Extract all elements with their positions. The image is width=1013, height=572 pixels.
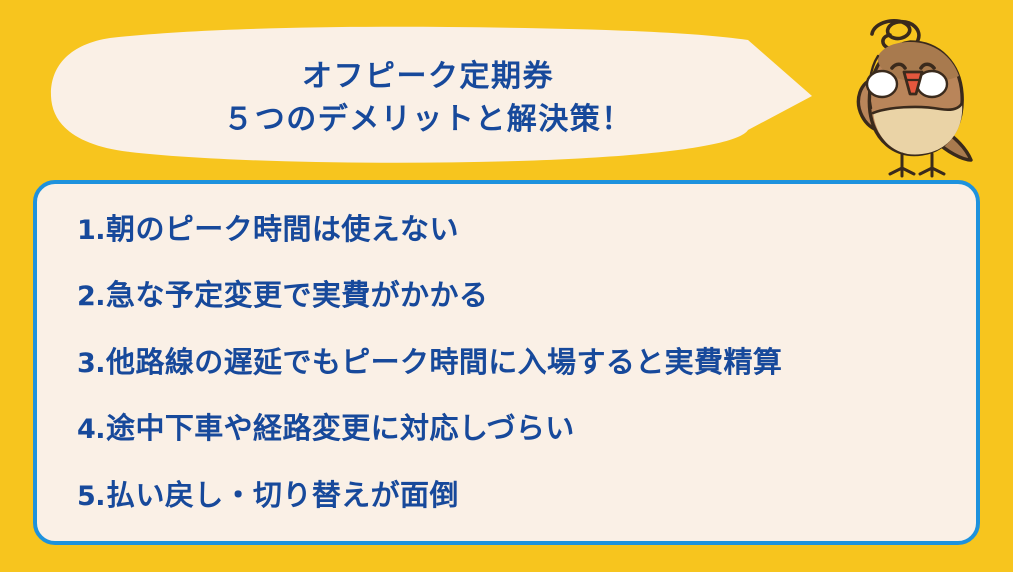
speech-bubble-text: オフピーク定期券 ５つのデメリットと解決策！ [78,42,778,154]
speech-bubble: オフピーク定期券 ５つのデメリットと解決策！ [48,26,828,166]
demerits-list: 1. 朝のピーク時間は使えない 2. 急な予定変更で実費がかかる 3. 他路線の… [77,196,956,529]
slide-canvas: オフピーク定期券 ５つのデメリットと解決策！ [0,0,1013,572]
cheek-left [867,71,897,97]
list-item-label: 急な予定変更で実費がかかる [106,279,488,312]
list-item-number: 3. [77,348,105,379]
list-item-number: 4. [77,414,105,445]
list-item-number: 5. [77,481,105,512]
list-item-number: 2. [77,281,105,312]
legs [890,154,944,176]
list-item: 4. 途中下車や経路変更に対応しづらい [77,412,956,445]
list-item-label: 朝のピーク時間は使えない [106,213,459,246]
list-item-number: 1. [77,215,105,246]
list-item-label: 払い戻し・切り替えが面倒 [106,479,459,512]
list-item-label: 他路線の遅延でもピーク時間に入場すると実費精算 [106,346,782,379]
list-item: 1. 朝のピーク時間は使えない [77,213,956,246]
list-item-label: 途中下車や経路変更に対応しづらい [106,412,575,445]
sparrow-illustration [826,8,996,180]
bubble-line-1: オフピーク定期券 [302,59,554,94]
list-item: 2. 急な予定変更で実費がかかる [77,279,956,312]
list-item: 3. 他路線の遅延でもピーク時間に入場すると実費精算 [77,346,956,379]
sparrow-mascot [826,8,996,180]
bubble-line-2: ５つのデメリットと解決策！ [223,102,633,137]
list-item: 5. 払い戻し・切り替えが面倒 [77,479,956,512]
demerits-card: 1. 朝のピーク時間は使えない 2. 急な予定変更で実費がかかる 3. 他路線の… [33,180,980,545]
